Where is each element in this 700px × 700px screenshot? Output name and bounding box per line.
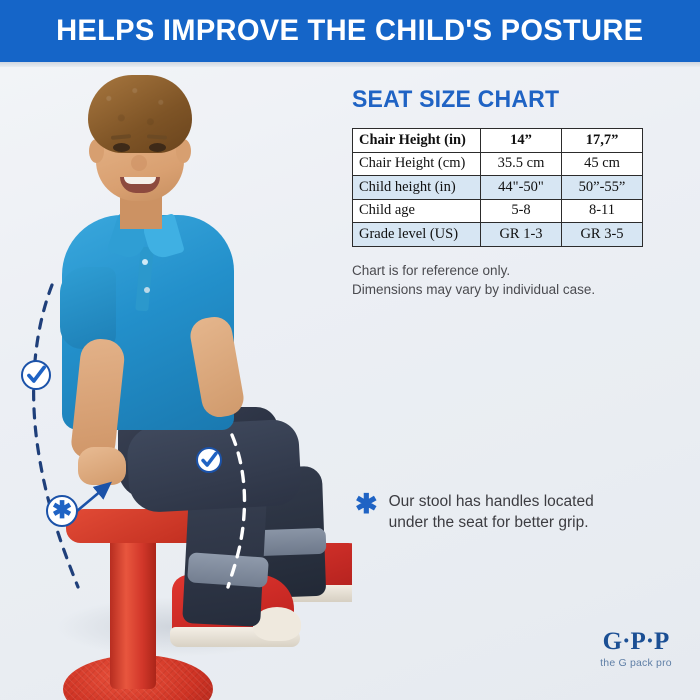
header-banner: HELPS IMPROVE THE CHILD'S POSTURE [0,0,700,62]
chart-title: SEAT SIZE CHART [352,86,650,114]
eye-right [149,143,166,152]
handle-note-line-1: Our stool has handles located [389,493,594,510]
row-label: Child age [353,199,481,223]
shirt-sleeve-left [60,267,116,349]
table-row: Chair Height (cm) 35.5 cm 45 cm [353,152,643,176]
table-row: Grade level (US) GR 1-3 GR 3-5 [353,223,643,247]
asterisk-icon: ✱ [52,501,72,521]
right-content-column: SEAT SIZE CHART Chair Height (in) 14” 17… [352,86,662,300]
row-value-col1: GR 1-3 [481,223,562,247]
asterisk-icon: ✱ [355,494,378,514]
handle-note-line-2: under the seat for better grip. [389,514,589,531]
chart-disclaimer: Chart is for reference only. Dimensions … [352,261,662,300]
row-value-col1: 14” [481,129,562,153]
disclaimer-line-2: Dimensions may vary by individual case. [352,280,662,300]
nose [131,155,147,171]
teeth [124,177,156,184]
shirt-button-bottom [144,287,150,293]
back-jean-cuff [256,528,327,556]
disclaimer-line-1: Chart is for reference only. [352,261,662,281]
stool-post [110,531,156,689]
row-value-col2: 8-11 [562,199,643,223]
table-row: Chair Height (in) 14” 17,7” [353,129,643,153]
brand-logo: G·P·P the G pack pro [586,628,686,669]
row-label: Chair Height (cm) [353,152,481,176]
hair [88,75,192,153]
handle-note-text: Our stool has handles located under the … [389,492,594,534]
handle-note: ✱ Our stool has handles located under th… [355,492,655,534]
asterisk-badge-handle: ✱ [46,495,78,527]
logo-tagline: the G pack pro [586,657,686,669]
front-jean-cuff [187,552,269,588]
eye-left [113,143,130,152]
hair-texture [88,75,192,153]
row-value-col1: 44"-50" [481,176,562,200]
row-label: Chair Height (in) [353,129,481,153]
row-value-col2: 17,7” [562,129,643,153]
row-value-col1: 35.5 cm [481,152,562,176]
infographic-page: HELPS IMPROVE THE CHILD'S POSTURE [0,0,700,700]
logo-wordmark: G·P·P [586,628,686,656]
table-row: Child height (in) 44"-50" 50”-55” [353,176,643,200]
check-badge-leg [196,447,222,473]
check-icon [198,449,220,471]
table-row: Child age 5-8 8-11 [353,199,643,223]
row-label: Grade level (US) [353,223,481,247]
page-title: HELPS IMPROVE THE CHILD'S POSTURE [56,14,643,48]
product-photo [0,67,352,700]
shirt-button-top [142,259,148,265]
check-badge-posture [21,360,51,390]
row-value-col2: 50”-55” [562,176,643,200]
seat-size-table: Chair Height (in) 14” 17,7” Chair Height… [352,128,643,247]
table-body: Chair Height (in) 14” 17,7” Chair Height… [353,129,643,247]
row-value-col2: 45 cm [562,152,643,176]
check-icon [23,362,49,388]
row-label: Child height (in) [353,176,481,200]
row-value-col2: GR 3-5 [562,223,643,247]
row-value-col1: 5-8 [481,199,562,223]
